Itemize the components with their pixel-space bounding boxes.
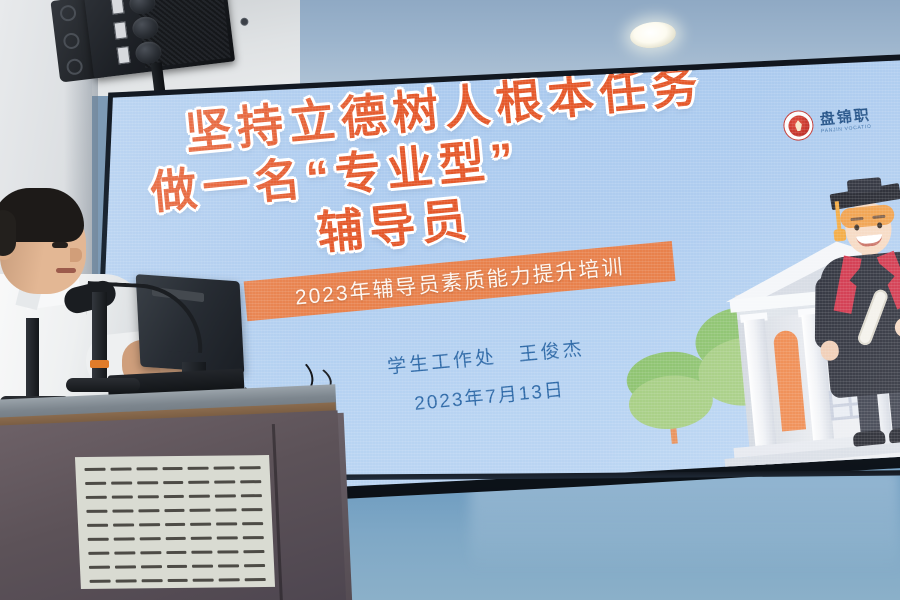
speaker-switch[interactable]	[114, 21, 128, 39]
graduate-shoe-left	[853, 430, 886, 447]
bracket-ring-icon	[59, 4, 77, 22]
slide-subtitle-text: 2023年辅导员素质能力提升培训	[294, 251, 626, 312]
presenter-mouth	[56, 268, 76, 273]
microphone-post	[26, 318, 39, 400]
presenter-eye	[52, 242, 68, 248]
bracket-ring-icon	[66, 58, 84, 76]
bracket-ring-icon	[63, 32, 81, 50]
cap-tassel-knot	[833, 229, 846, 242]
slide-meta-block: 学生工作处 王俊杰 2023年7月13日	[335, 329, 640, 423]
speaker-switch[interactable]	[110, 0, 124, 15]
presenter-hair-side	[0, 210, 16, 256]
microphone-base[interactable]	[66, 378, 140, 392]
screenshot-root: 盘锦职 PANJIN VOCATIO 坚持立德树人根本任务 做一名“专业型” 辅…	[0, 0, 900, 600]
microphone-ring-light	[90, 360, 109, 368]
presenter-nose	[70, 248, 82, 262]
graduate-shoe-right	[888, 426, 900, 443]
perforated-vent-panel	[75, 455, 275, 589]
microphone-post	[92, 292, 107, 384]
